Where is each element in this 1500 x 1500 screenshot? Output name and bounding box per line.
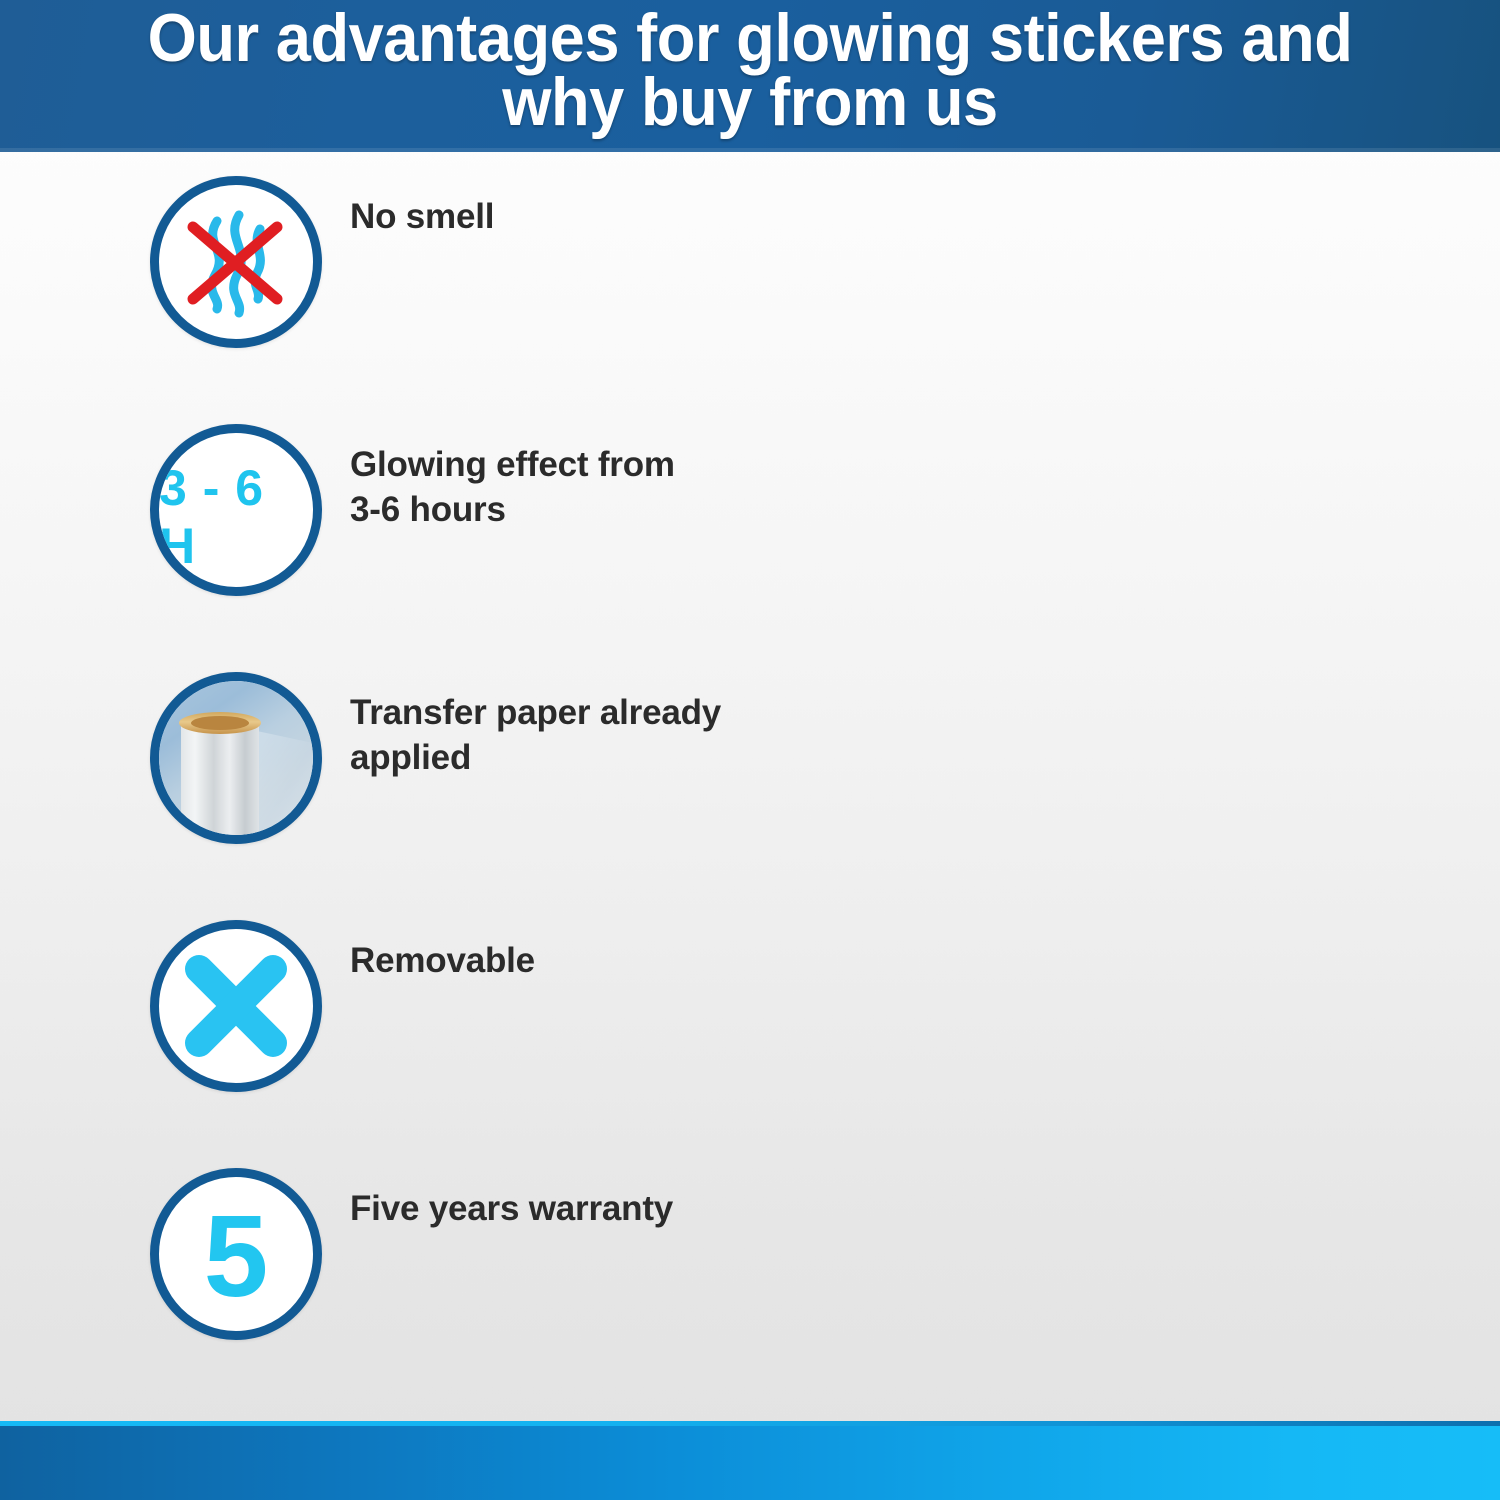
feature-safe-packaging: Safe and secure packaging [750, 920, 1500, 1168]
hours-badge-icon: 3 - 6 H [150, 424, 322, 596]
warranty-number-text: 5 [159, 1177, 313, 1331]
transfer-sheet [257, 731, 322, 844]
feature-label: Five years warranty [350, 1186, 673, 1231]
x-cross-icon [150, 920, 322, 1092]
x-cross-glyph [159, 929, 313, 1083]
feature-label: Glowing effect from 3-6 hours [350, 442, 675, 532]
feature-german-materials: High-quality German materials [750, 424, 1500, 672]
transfer-paper-roll-photo [150, 672, 322, 844]
feature-used-outside: Can be used outside [750, 672, 1500, 920]
hours-badge-text: 3 - 6 H [159, 433, 313, 587]
transfer-roll-body [181, 719, 259, 844]
feature-removable: Removable [0, 920, 750, 1168]
warranty-number-icon: 5 [150, 1168, 322, 1340]
feature-five-years-warranty: 5 Five years warranty [0, 1168, 750, 1416]
no-smell-icon [150, 176, 322, 348]
feature-label: Removable [350, 938, 535, 983]
feature-easy-to-apply: Easy to apply [750, 1168, 1500, 1416]
transfer-roll-core-inner [191, 716, 249, 730]
feature-label: No smell [350, 194, 494, 239]
feature-transfer-paper: Transfer paper already applied [0, 672, 750, 920]
footer-banner [0, 1426, 1500, 1500]
feature-label: Transfer paper already applied [350, 690, 721, 780]
features-grid: No smell Bright [0, 176, 1500, 1416]
transfer-paper-photo-bg [159, 681, 313, 835]
no-smell-glyph [159, 185, 313, 339]
page-title: Our advantages for glowing stickers and … [53, 0, 1448, 134]
feature-no-smell: No smell [0, 176, 750, 424]
feature-bright-green-light: Bright green light in dark [750, 176, 1500, 424]
feature-glowing-effect: 3 - 6 H Glowing effect from 3-6 hours [0, 424, 750, 672]
header-banner: Our advantages for glowing stickers and … [0, 0, 1500, 152]
